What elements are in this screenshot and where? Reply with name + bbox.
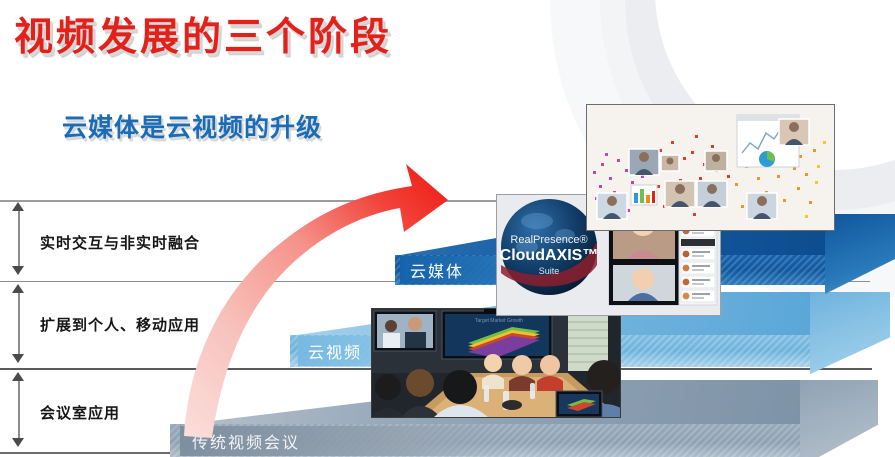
slide-canvas: 视频发展的三个阶段 云媒体是云视频的升级 实时交互与非实时融合 扩展到个人、移动…	[0, 0, 895, 457]
tier-range-arrow-1	[18, 378, 20, 444]
arrowhead-down-1	[12, 438, 24, 447]
photo-traditional-conference-room: Target Market Growth	[371, 308, 621, 418]
tier-range-arrow-2	[18, 290, 20, 360]
page-subtitle: 云媒体是云视频的升级	[62, 108, 322, 144]
arrowhead-up-1	[12, 372, 24, 381]
cloudaxis-logo-line2: CloudAXIS™	[500, 247, 599, 264]
cloudaxis-logo-line1: RealPresence®	[510, 234, 587, 246]
tier-range-arrow-3	[18, 208, 20, 272]
svg-text:Target Market Growth: Target Market Growth	[475, 318, 523, 324]
arrowhead-down-2	[12, 354, 24, 363]
stage-label-traditional: 传统视频会议	[180, 426, 510, 456]
stage-1-side-face	[800, 380, 878, 457]
arrowhead-up-2	[12, 284, 24, 293]
cloudaxis-logo-line3: Suite	[539, 266, 560, 276]
page-title: 视频发展的三个阶段	[14, 6, 392, 62]
photo-cloud-media-wall	[586, 104, 835, 231]
arrowhead-down-3	[12, 266, 24, 275]
arrowhead-up-3	[12, 202, 24, 211]
tier-label-meeting-room: 会议室应用	[40, 402, 120, 423]
